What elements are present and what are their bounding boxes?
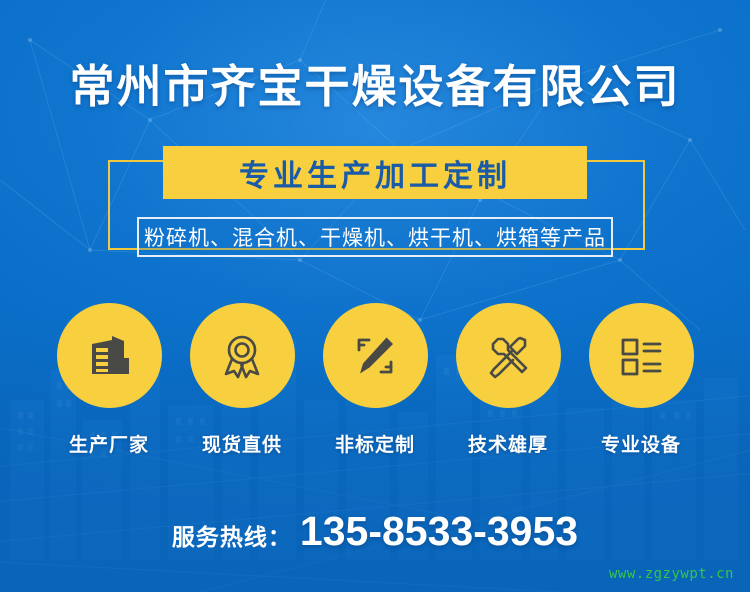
page-title: 常州市齐宝干燥设备有限公司 (0, 62, 750, 112)
products-text: 粉碎机、混合机、干燥机、烘干机、烘箱等产品 (144, 222, 606, 252)
checklist-icon (613, 328, 669, 384)
feature-icon-circle (323, 303, 428, 408)
feature-icon-circle (190, 303, 295, 408)
feature-label: 技术雄厚 (468, 430, 548, 457)
feature-label: 非标定制 (335, 430, 415, 457)
hotline: 服务热线： 135-8533-3953 (0, 508, 750, 555)
award-medal-icon (214, 328, 270, 384)
wrench-hammer-icon (480, 328, 536, 384)
feature-label: 生产厂家 (69, 430, 149, 457)
hotline-number[interactable]: 135-8533-3953 (300, 508, 578, 555)
pencil-ruler-icon (347, 328, 403, 384)
feature-icon-circle (57, 303, 162, 408)
feature-list: 生产厂家 现货直供 (0, 303, 750, 457)
feature-label: 现货直供 (202, 430, 282, 457)
feature-item-stock[interactable]: 现货直供 (190, 303, 295, 457)
feature-item-factory[interactable]: 生产厂家 (57, 303, 162, 457)
slogan-text: 专业生产加工定制 (239, 151, 511, 195)
feature-label: 专业设备 (601, 430, 681, 457)
hotline-label: 服务热线： (172, 518, 292, 552)
factory-building-icon (81, 328, 137, 384)
slogan-banner: 专业生产加工定制 (163, 146, 587, 199)
feature-item-technology[interactable]: 技术雄厚 (456, 303, 561, 457)
watermark-url: www.zgzywpt.cn (609, 566, 734, 582)
feature-icon-circle (589, 303, 694, 408)
feature-item-equipment[interactable]: 专业设备 (589, 303, 694, 457)
promo-banner: 常州市齐宝干燥设备有限公司 专业生产加工定制 粉碎机、混合机、干燥机、烘干机、烘… (0, 0, 750, 592)
products-box: 粉碎机、混合机、干燥机、烘干机、烘箱等产品 (137, 217, 613, 257)
feature-item-custom[interactable]: 非标定制 (323, 303, 428, 457)
feature-icon-circle (456, 303, 561, 408)
